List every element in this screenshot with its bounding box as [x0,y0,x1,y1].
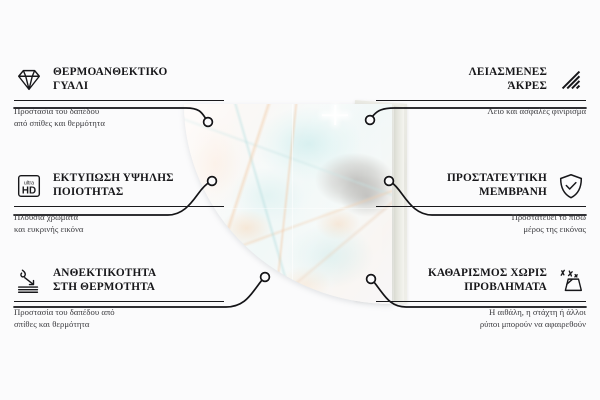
feature-header: ΘΕΡΜΟΑΝΘΕΚΤΙΚΟ ΓΥΑΛΙ [14,64,224,95]
feature-divider [14,206,224,207]
feature-divider [14,301,224,302]
feature-title-line: ΕΚΤΥΠΩΣΗ ΥΨΗΛΗΣ [53,171,174,185]
feature-description: Προστατεύει το πίσω μέρος της εικόνας [376,212,586,235]
diamond-icon [14,65,44,95]
feature-desc-line: Προστατεύει το πίσω [376,212,586,223]
feature-title-line: ΛΕΙΑΣΜΕΝΕΣ [469,65,547,79]
feature-description: Πλούσια χρώματα και ευκρινής εικόνα [14,212,224,235]
feature-polished-edges[interactable]: ΛΕΙΑΣΜΕΝΕΣ ΆΚΡΕΣ Λείο και ασφαλές φινίρι… [376,64,586,118]
feature-divider [376,100,586,101]
infographic-stage: ΘΕΡΜΟΑΝΘΕΚΤΙΚΟ ΓΥΑΛΙ Προστασία του δαπέδ… [0,0,600,400]
feature-desc-line: Λείο και ασφαλές φινίρισμα [376,106,586,117]
feature-header: ΠΡΟΣΤΑΤΕΥΤΙΚΗ ΜΕΜΒΡΑΝΗ [376,170,586,201]
feature-desc-line: και ευκρινής εικόνα [14,224,224,235]
feature-title: ΠΡΟΣΤΑΤΕΥΤΙΚΗ ΜΕΜΒΡΑΝΗ [447,170,547,199]
feature-title: ΘΕΡΜΟΑΝΘΕΚΤΙΚΟ ΓΥΑΛΙ [53,64,167,93]
feature-header: ΚΑΘΑΡΙΣΜΟΣ ΧΩΡΙΣ ΠΡΟΒΛΗΜΑΤΑ [376,265,586,296]
feature-heat-resistance[interactable]: ΑΝΘΕΚΤΙΚΟΤΗΤΑ ΣΤΗ ΘΕΡΜΟΤΗΤΑ Προστασία το… [14,265,224,330]
feature-header: ΑΝΘΕΚΤΙΚΟΤΗΤΑ ΣΤΗ ΘΕΡΜΟΤΗΤΑ [14,265,224,296]
feature-header: ΛΕΙΑΣΜΕΝΕΣ ΆΚΡΕΣ [376,64,586,95]
shield-check-icon [556,171,586,201]
feature-title-line: ΆΚΡΕΣ [469,79,547,93]
feature-title: ΑΝΘΕΚΤΙΚΟΤΗΤΑ ΣΤΗ ΘΕΡΜΟΤΗΤΑ [53,265,156,294]
feature-description: Προστασία του δαπέδου από σπίθες και θερ… [14,106,224,129]
feature-divider [376,301,586,302]
flame-deflect-icon [14,266,44,296]
feature-title-line: ΚΑΘΑΡΙΣΜΟΣ ΧΩΡΙΣ [428,266,547,280]
hatched-triangle-icon [556,65,586,95]
connector-dot-4 [366,116,375,125]
feature-title-line: ΜΕΜΒΡΑΝΗ [447,185,547,199]
feature-description: Λείο και ασφαλές φινίρισμα [376,106,586,117]
feature-divider [14,100,224,101]
feature-title-line: ΣΤΗ ΘΕΡΜΟΤΗΤΑ [53,280,156,294]
feature-desc-line: ρύποι μπορούν να αφαιρεθούν [376,319,586,330]
connector-dot-3 [261,273,270,282]
feature-description: Η αιθάλη, η στάχτη ή άλλοι ρύποι μπορούν… [376,307,586,330]
connector-dot-6 [367,275,376,284]
feature-desc-line: Πλούσια χρώματα [14,212,224,223]
feature-title: ΚΑΘΑΡΙΣΜΟΣ ΧΩΡΙΣ ΠΡΟΒΛΗΜΑΤΑ [428,265,547,294]
feature-protective-membrane[interactable]: ΠΡΟΣΤΑΤΕΥΤΙΚΗ ΜΕΜΒΡΑΝΗ Προστατεύει το πί… [376,170,586,235]
feature-easy-cleaning[interactable]: ΚΑΘΑΡΙΣΜΟΣ ΧΩΡΙΣ ΠΡΟΒΛΗΜΑΤΑ Η αιθάλη, η … [376,265,586,330]
feature-title: ΕΚΤΥΠΩΣΗ ΥΨΗΛΗΣ ΠΟΙΟΤΗΤΑΣ [53,170,174,199]
feature-title-line: ΓΥΑΛΙ [53,79,167,93]
feature-header: ultra HD ΕΚΤΥΠΩΣΗ ΥΨΗΛΗΣ ΠΟΙΟΤΗΤΑΣ [14,170,224,201]
feature-description: Προστασία του δαπέδου από σπίθες και θερ… [14,307,224,330]
feature-desc-line: από σπίθες και θερμότητα [14,118,224,129]
feature-desc-line: Προστασία του δαπέδου από [14,307,224,318]
feature-title: ΛΕΙΑΣΜΕΝΕΣ ΆΚΡΕΣ [469,64,547,93]
feature-title-line: ΠΟΙΟΤΗΤΑΣ [53,185,174,199]
feature-desc-line: Προστασία του δαπέδου [14,106,224,117]
feature-title-line: ΠΡΟΣΤΑΤΕΥΤΙΚΗ [447,171,547,185]
feature-divider [376,206,586,207]
feature-title-line: ΑΝΘΕΚΤΙΚΟΤΗΤΑ [53,266,156,280]
feature-title-line: ΠΡΟΒΛΗΜΑΤΑ [428,280,547,294]
ultra-hd-icon: ultra HD [14,171,44,201]
feature-high-quality-print[interactable]: ultra HD ΕΚΤΥΠΩΣΗ ΥΨΗΛΗΣ ΠΟΙΟΤΗΤΑΣ Πλούσ… [14,170,224,235]
sparkle-wipe-icon [556,266,586,296]
feature-desc-line: σπίθες και θερμότητα [14,319,224,330]
feature-title-line: ΘΕΡΜΟΑΝΘΕΚΤΙΚΟ [53,65,167,79]
feature-desc-line: μέρος της εικόνας [376,224,586,235]
feature-heat-resistant-glass[interactable]: ΘΕΡΜΟΑΝΘΕΚΤΙΚΟ ΓΥΑΛΙ Προστασία του δαπέδ… [14,64,224,129]
feature-desc-line: Η αιθάλη, η στάχτη ή άλλοι [376,307,586,318]
ultra-hd-icon-large-text: HD [22,186,36,197]
